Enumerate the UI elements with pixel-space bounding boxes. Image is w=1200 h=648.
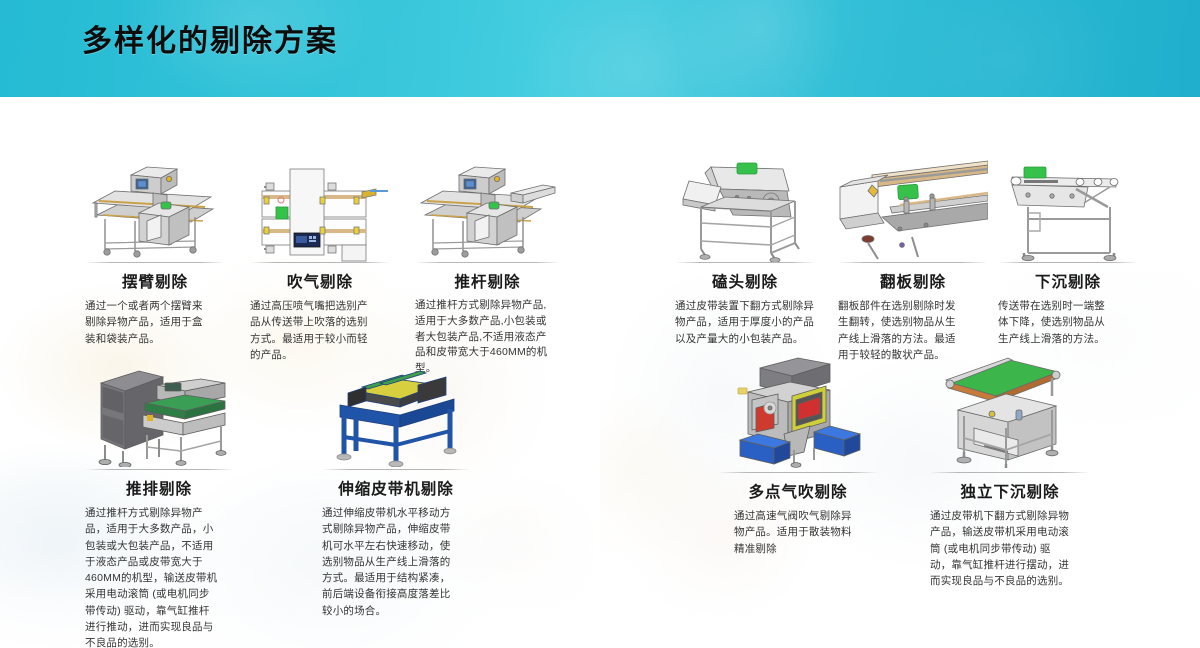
card-description: 通过推杆方式剔除异物产品，适用于大多数产品，小包装或大包装产品，不适用于液态产品… bbox=[85, 505, 220, 648]
solution-card-grid: 摆臂剔除 通过一个或者两个摆臂来剔除异物产品，适用于盒装和袋装产品。 bbox=[0, 97, 1200, 648]
card-divider bbox=[998, 262, 1138, 263]
card-divider bbox=[718, 472, 878, 473]
pusher-rod-rejector-machine-icon bbox=[415, 157, 560, 262]
solution-card-drop-down[interactable]: 下沉剔除 传送带在选别时一端整体下降，使选别物品从生产线上滑落的方法。 bbox=[998, 157, 1138, 347]
card-title: 摆臂剔除 bbox=[85, 270, 225, 292]
solution-card-pusher[interactable]: 推杆剔除 通过推杆方式剔除异物产品,适用于大多数产品,小包装或者大包装产品,不适… bbox=[415, 157, 560, 377]
card-description: 通过一个或者两个摆臂来剔除异物产品，适用于盒装和袋装产品。 bbox=[85, 298, 203, 347]
card-divider bbox=[250, 262, 390, 263]
card-title: 推杆剔除 bbox=[415, 270, 560, 292]
card-divider bbox=[85, 469, 233, 470]
tilting-belt-rejector-machine-icon bbox=[675, 157, 815, 262]
card-divider bbox=[930, 472, 1090, 473]
card-description: 通过高压喷气嘴把选别产品从传送带上吹落的选别方式。最适用于较小而轻的产品。 bbox=[250, 298, 378, 363]
card-divider bbox=[838, 262, 988, 263]
card-description: 通过伸缩皮带机水平移动方式剔除异物产品，伸缩皮带机可水平左右快速移动，使选别物品… bbox=[322, 505, 452, 619]
air-blow-rejector-machine-icon bbox=[250, 157, 390, 262]
card-description: 通过高速气阀吹气剔除异物产品。适用于散装物料精准剔除 bbox=[734, 508, 862, 557]
push-row-rejector-machine-icon bbox=[85, 357, 233, 467]
card-description: 传送带在选别时一端整体下降，使选别物品从生产线上滑落的方法。 bbox=[998, 298, 1110, 347]
card-title: 翻板剔除 bbox=[838, 270, 988, 292]
solution-card-push-row[interactable]: 推排剔除 通过推杆方式剔除异物产品，适用于大多数产品，小包装或大包装产品，不适用… bbox=[85, 357, 233, 648]
card-title: 多点气吹剔除 bbox=[718, 480, 878, 502]
flip-plate-rejector-machine-icon bbox=[838, 157, 988, 262]
solution-card-telescopic-belt[interactable]: 伸缩皮带机剔除 通过伸缩皮带机水平移动方式剔除异物产品，伸缩皮带机可水平左右快速… bbox=[322, 357, 470, 619]
swing-arm-rejector-machine-icon bbox=[85, 157, 225, 262]
solution-card-kowtow[interactable]: 磕头剔除 通过皮带装置下翻方式剔除异物产品，适用于厚度小的产品以及产量大的小包装… bbox=[675, 157, 815, 347]
drop-down-conveyor-machine-icon bbox=[998, 157, 1138, 262]
solution-card-independent-drop[interactable]: 独立下沉剔除 通过皮带机下翻方式剔除异物产品，输送皮带机采用电动滚筒 (或电机同… bbox=[930, 352, 1090, 589]
card-divider bbox=[322, 469, 470, 470]
multipoint-air-blow-sorter-machine-icon bbox=[718, 352, 878, 470]
card-divider bbox=[85, 262, 225, 263]
card-title: 磕头剔除 bbox=[675, 270, 815, 292]
solution-card-swing-arm[interactable]: 摆臂剔除 通过一个或者两个摆臂来剔除异物产品，适用于盒装和袋装产品。 bbox=[85, 157, 225, 347]
page-header-banner: 多样化的剔除方案 bbox=[0, 0, 1200, 97]
poster-page: 多样化的剔除方案 bbox=[0, 0, 1200, 648]
card-divider bbox=[675, 262, 815, 263]
solution-card-air-blow[interactable]: 吹气剔除 通过高压喷气嘴把选别产品从传送带上吹落的选别方式。最适用于较小而轻的产… bbox=[250, 157, 390, 363]
card-description: 通过皮带装置下翻方式剔除异物产品，适用于厚度小的产品以及产量大的小包装产品。 bbox=[675, 298, 823, 347]
card-title: 下沉剔除 bbox=[998, 270, 1138, 292]
solution-card-multipoint-air[interactable]: 多点气吹剔除 通过高速气阀吹气剔除异物产品。适用于散装物料精准剔除 bbox=[718, 352, 878, 557]
card-title: 伸缩皮带机剔除 bbox=[322, 477, 470, 499]
card-divider bbox=[415, 262, 560, 263]
card-title: 吹气剔除 bbox=[250, 270, 390, 292]
solution-card-flip-plate[interactable]: 翻板剔除 翻板部件在选别剔除时发生翻转，使选别物品从生产线上滑落的方法。最适用于… bbox=[838, 157, 988, 363]
card-description: 通过皮带机下翻方式剔除异物产品，输送皮带机采用电动滚筒 (或电机同步带传动) 驱… bbox=[930, 508, 1070, 589]
telescopic-belt-rejector-machine-icon bbox=[322, 357, 470, 467]
page-title: 多样化的剔除方案 bbox=[82, 27, 338, 57]
card-title: 独立下沉剔除 bbox=[930, 480, 1090, 502]
independent-drop-rejector-machine-icon bbox=[930, 352, 1090, 470]
card-title: 推排剔除 bbox=[85, 477, 233, 499]
